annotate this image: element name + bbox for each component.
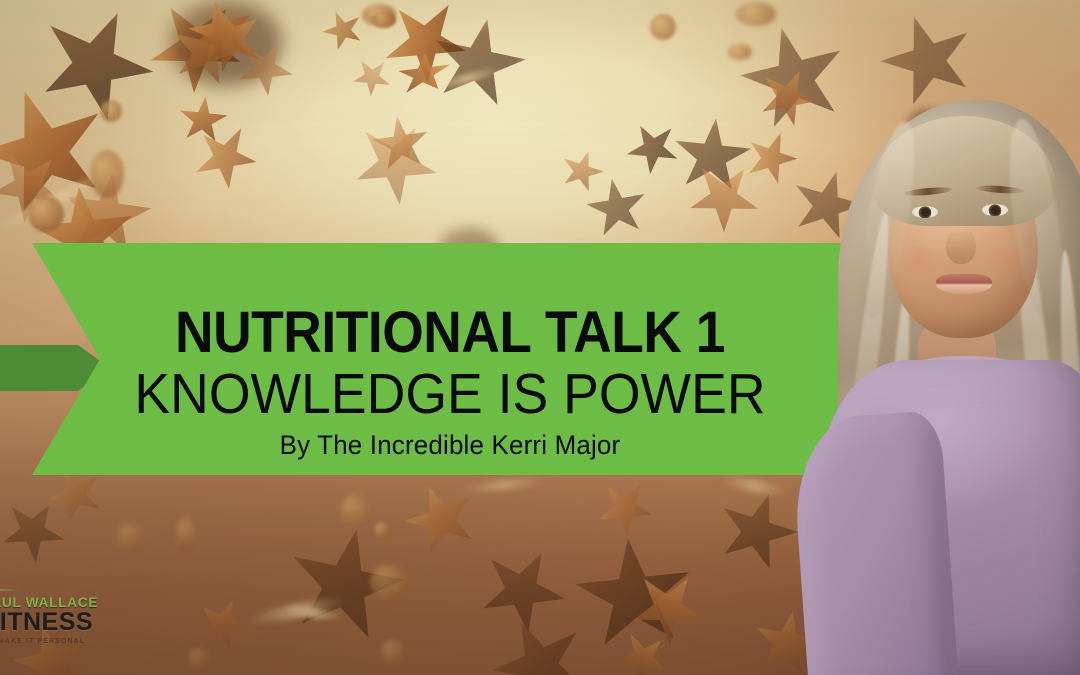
pupil bbox=[921, 208, 930, 217]
brand-watermark: PAUL WALLACE FITNESS MAKE IT PERSONAL bbox=[0, 596, 124, 646]
brand-accent-rule bbox=[0, 589, 20, 591]
brand-tagline: MAKE IT PERSONAL bbox=[0, 638, 124, 645]
title-line-2: KNOWLEDGE IS POWER bbox=[121, 366, 779, 423]
title-byline: By The Incredible Kerri Major bbox=[114, 432, 786, 459]
banner-text-block: NUTRITIONAL TALK 1 KNOWLEDGE IS POWER By… bbox=[100, 304, 800, 459]
title-card: NUTRITIONAL TALK 1 KNOWLEDGE IS POWER By… bbox=[0, 0, 1080, 675]
brand-name-main: FITNESS bbox=[0, 610, 124, 635]
cheek bbox=[896, 246, 942, 276]
hoodie-shoulder bbox=[790, 410, 960, 675]
nose bbox=[946, 228, 976, 264]
title-line-1: NUTRITIONAL TALK 1 bbox=[128, 304, 772, 362]
mouth bbox=[936, 274, 992, 294]
presenter-photo bbox=[760, 60, 1080, 675]
pupil bbox=[991, 206, 1000, 215]
brand-name-top: PAUL WALLACE bbox=[0, 596, 125, 610]
